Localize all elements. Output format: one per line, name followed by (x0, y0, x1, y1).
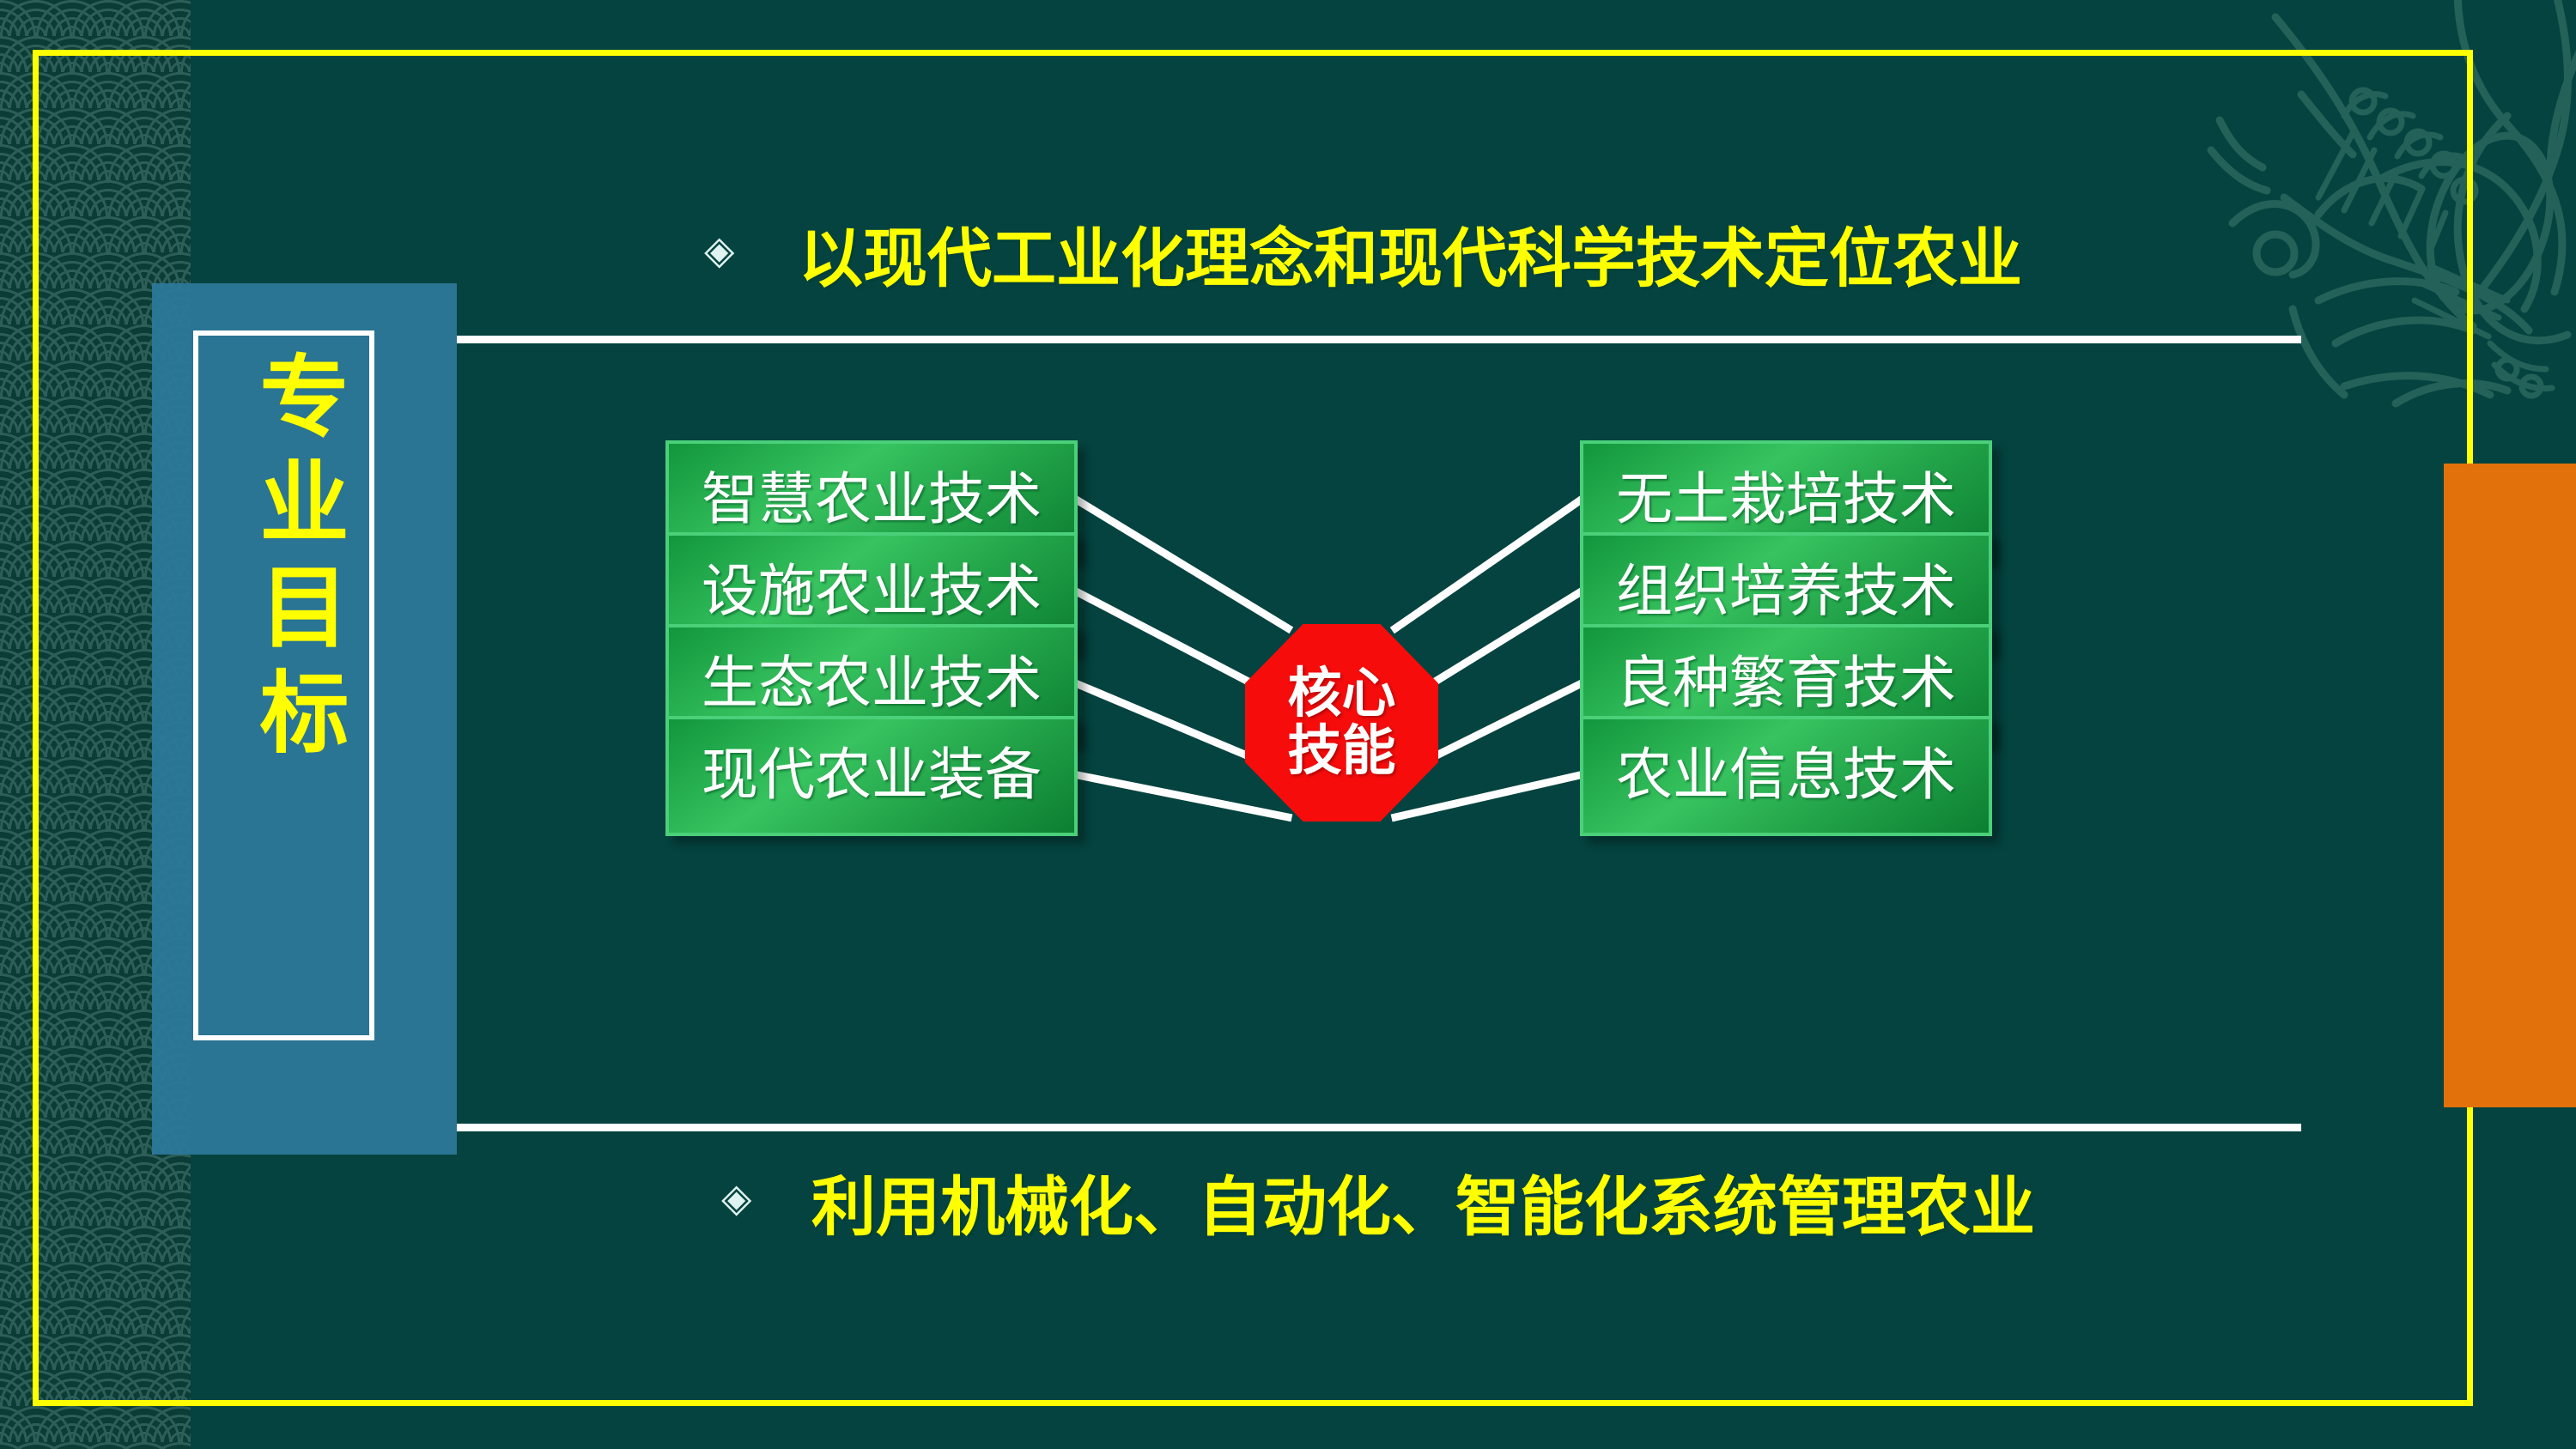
node-left-4-label: 现代农业装备 (669, 748, 1074, 804)
node-left-3-label: 生态农业技术 (669, 656, 1074, 712)
core-line-1: 核心 (1288, 665, 1396, 723)
node-right-4-label: 农业信息技术 (1583, 748, 1989, 804)
node-left-2-label: 设施农业技术 (669, 564, 1074, 621)
slide-canvas: 专 业 目 标 ◈ 以现代工业化理念和现代科学技术定位农业 ◈ 利用机械化、自动… (0, 0, 2576, 1449)
core-skills-diagram: 智慧农业技术 设施农业技术 生态农业技术 现代农业装备 无土栽培技术 组织培养技… (0, 0, 2576, 1449)
node-right-1-label: 无土栽培技术 (1583, 472, 1989, 529)
node-right-3-label: 良种繁育技术 (1583, 656, 1989, 712)
node-right-4[interactable]: 农业信息技术 (1580, 716, 1992, 836)
node-left-1-label: 智慧农业技术 (669, 472, 1074, 529)
core-skills-label: 核心 技能 (1288, 665, 1396, 780)
node-right-2-label: 组织培养技术 (1583, 564, 1989, 621)
core-skills-octagon[interactable]: 核心 技能 (1245, 624, 1438, 822)
core-line-2: 技能 (1288, 723, 1396, 780)
node-left-4[interactable]: 现代农业装备 (665, 716, 1078, 836)
